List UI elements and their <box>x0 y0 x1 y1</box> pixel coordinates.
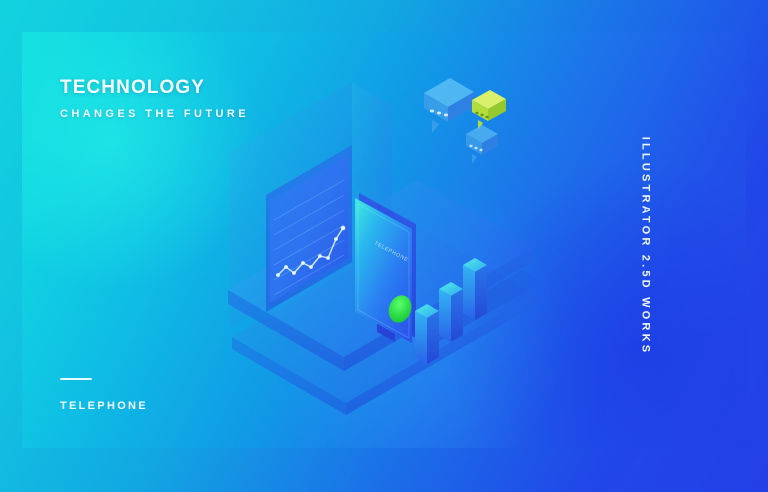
page-subtitle: CHANGES THE FUTURE <box>60 108 249 120</box>
chat-bubble-green <box>472 90 506 130</box>
bar-3 <box>463 258 487 320</box>
bar-1 <box>415 304 439 364</box>
page-title: TECHNOLOGY <box>60 77 205 99</box>
poster-frame: TELEPHONE <box>0 0 768 492</box>
chat-bubble-large-blue <box>424 78 474 133</box>
chat-bubble-small-blue <box>466 125 498 164</box>
vertical-caption: ILLUSTRATOR 2.5D WORKS <box>639 137 651 356</box>
footer-label: TELEPHONE <box>60 400 148 412</box>
artboard: TELEPHONE <box>22 32 746 448</box>
bar-2 <box>439 282 463 342</box>
divider-rule <box>60 378 92 380</box>
